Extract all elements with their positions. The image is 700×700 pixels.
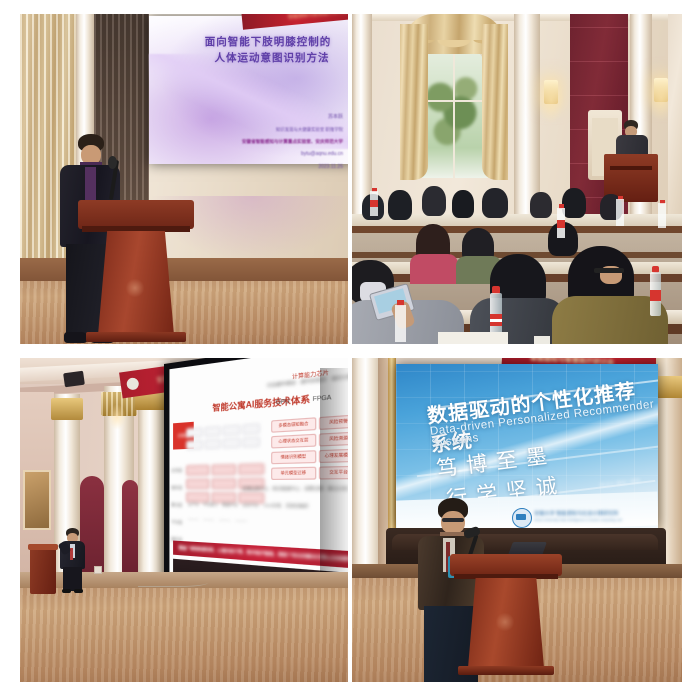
slide-title-en: Data-driven Personalized Recommender Sys… (429, 398, 658, 450)
column-capital (51, 398, 83, 420)
slide-presenter: 陈洁文 教授 / 博导 (600, 478, 641, 490)
water-bottle (394, 300, 407, 342)
photo-collage: 面向智能下肢明膝控制的 人体运动意图识别方法 苏本跃 知识发现与大健康实验室 职… (0, 0, 700, 700)
slide-title-line2: 人体运动意图识别方法 (192, 48, 348, 66)
slide-author: 苏本跃 (215, 109, 343, 122)
photo-top-left: 面向智能下肢明膝控制的 人体运动意图识别方法 苏本跃 知识发现与大健康实验室 职… (20, 14, 348, 344)
slide-org-cn: 安徽大学 智能感知与社会计算研究所 (534, 510, 618, 517)
water-bottle (370, 188, 379, 216)
water-bottle (648, 266, 663, 316)
photo-bottom-left: 安徽省 安徽省 智能公寓AI服务技术体系 计算能力芯片 可信硬 (20, 358, 348, 682)
photo-top-right (352, 14, 682, 344)
window (408, 16, 500, 178)
slide-left-axis: 应用层 服务层 算法层 平台层 硬件层 (171, 461, 184, 548)
podium (78, 200, 194, 344)
attendee-photographer (352, 246, 476, 344)
calligraphy-line-1: 笃博至墨 (435, 439, 558, 483)
photo-bottom-right: 智能感知与智慧医疗研讨会 数据驱动的个性化推荐系统 Data-driven Pe… (352, 358, 682, 682)
slide-org-en: Anhui University Data Intelligence & Soc… (534, 518, 622, 522)
slide-affil-1: 知识发现与大健康实验室 职隆学院 (215, 122, 343, 134)
event-banner-text: 智能感知与智慧医疗研讨会 (288, 14, 348, 20)
slide-title-cn: 数据驱动的个性化推荐系统 (425, 372, 658, 458)
slide-email: bytu@aqnu.edu.cn (215, 146, 343, 159)
slide-date: 2023.11.25 (215, 159, 343, 172)
podium-left (30, 546, 56, 594)
water-bottle (658, 200, 667, 228)
water-bottle (616, 196, 625, 226)
speaker-standing (56, 528, 90, 594)
podium (450, 554, 562, 680)
water-bottle (556, 204, 566, 238)
university-logo (512, 508, 532, 528)
slide-affil-2: 安徽省智能感知与计算重点实验室、安庆师范大学 (215, 134, 343, 146)
